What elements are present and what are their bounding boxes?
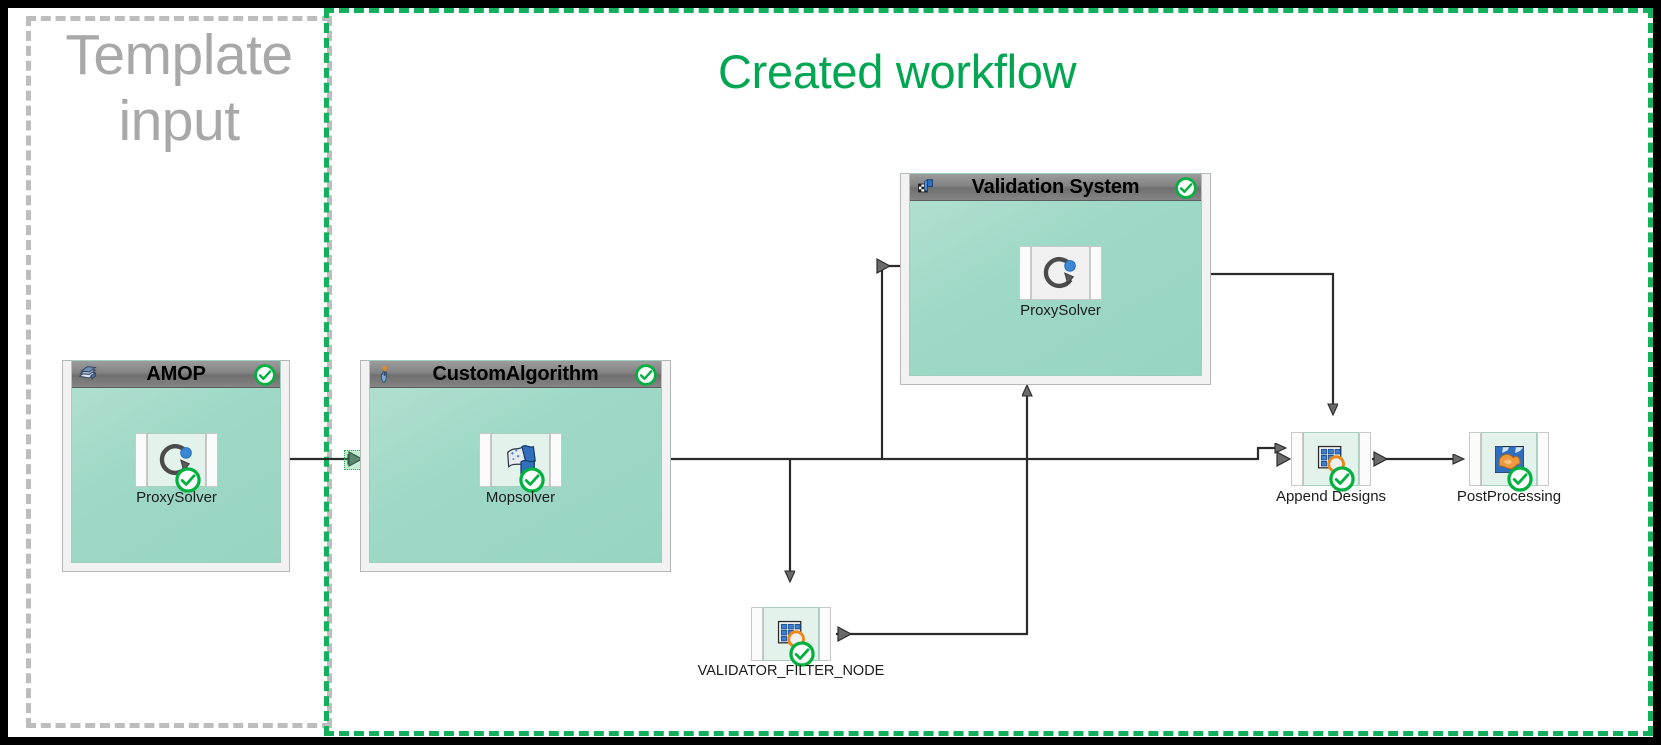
node-output-ear[interactable] — [1359, 432, 1371, 486]
node-input-ear[interactable] — [1291, 432, 1303, 486]
group-node-validation-system[interactable]: Validation System — [900, 173, 1211, 385]
group-title-label: AMOP — [146, 363, 205, 386]
ok-check-icon — [1175, 177, 1197, 199]
template-input-title: Template input — [38, 22, 320, 154]
group-title-bar: CustomAlgorithm — [370, 361, 661, 388]
node-frame — [1019, 246, 1102, 300]
node-label: Append Designs — [1276, 488, 1386, 505]
workflow-canvas: Template input Created workflow — [8, 8, 1653, 737]
group-title-label: Validation System — [972, 176, 1140, 199]
ok-check-icon — [254, 364, 276, 386]
ok-check-icon — [635, 364, 657, 386]
node-input-ear[interactable] — [1019, 246, 1031, 300]
group-title-bar: Validation System — [910, 174, 1201, 201]
node-label: ProxySolver — [1020, 302, 1101, 319]
node-input-ear[interactable] — [751, 607, 763, 661]
group-node-customalgorithm[interactable]: CustomAlgorithm — [360, 360, 671, 572]
validation-flag-icon — [915, 177, 936, 198]
template-input-title-line2: input — [38, 88, 320, 154]
node-label: VALIDATOR_FILTER_NODE — [698, 663, 885, 679]
node-label: ProxySolver — [136, 489, 217, 506]
node-input-ear[interactable] — [479, 433, 491, 487]
node-icon-holder — [1031, 246, 1090, 300]
node-label: PostProcessing — [1457, 488, 1561, 505]
book-stack-icon — [77, 364, 98, 385]
node-output-ear[interactable] — [1537, 432, 1549, 486]
node-input-ear[interactable] — [135, 433, 147, 487]
node-label: Mopsolver — [486, 489, 555, 506]
node-output-ear[interactable] — [550, 433, 562, 487]
hand-script-icon — [375, 364, 396, 385]
node-input-ear[interactable] — [1469, 432, 1481, 486]
proxy-solver-icon — [1042, 254, 1080, 292]
group-title-bar: AMOP — [72, 361, 280, 388]
node-output-ear[interactable] — [819, 607, 831, 661]
template-input-title-line1: Template — [38, 22, 320, 88]
group-node-amop[interactable]: AMOP — [62, 360, 290, 572]
node-output-ear[interactable] — [1090, 246, 1102, 300]
group-title-label: CustomAlgorithm — [433, 363, 599, 386]
created-workflow-title: Created workflow — [718, 44, 1076, 99]
node-output-ear[interactable] — [206, 433, 218, 487]
